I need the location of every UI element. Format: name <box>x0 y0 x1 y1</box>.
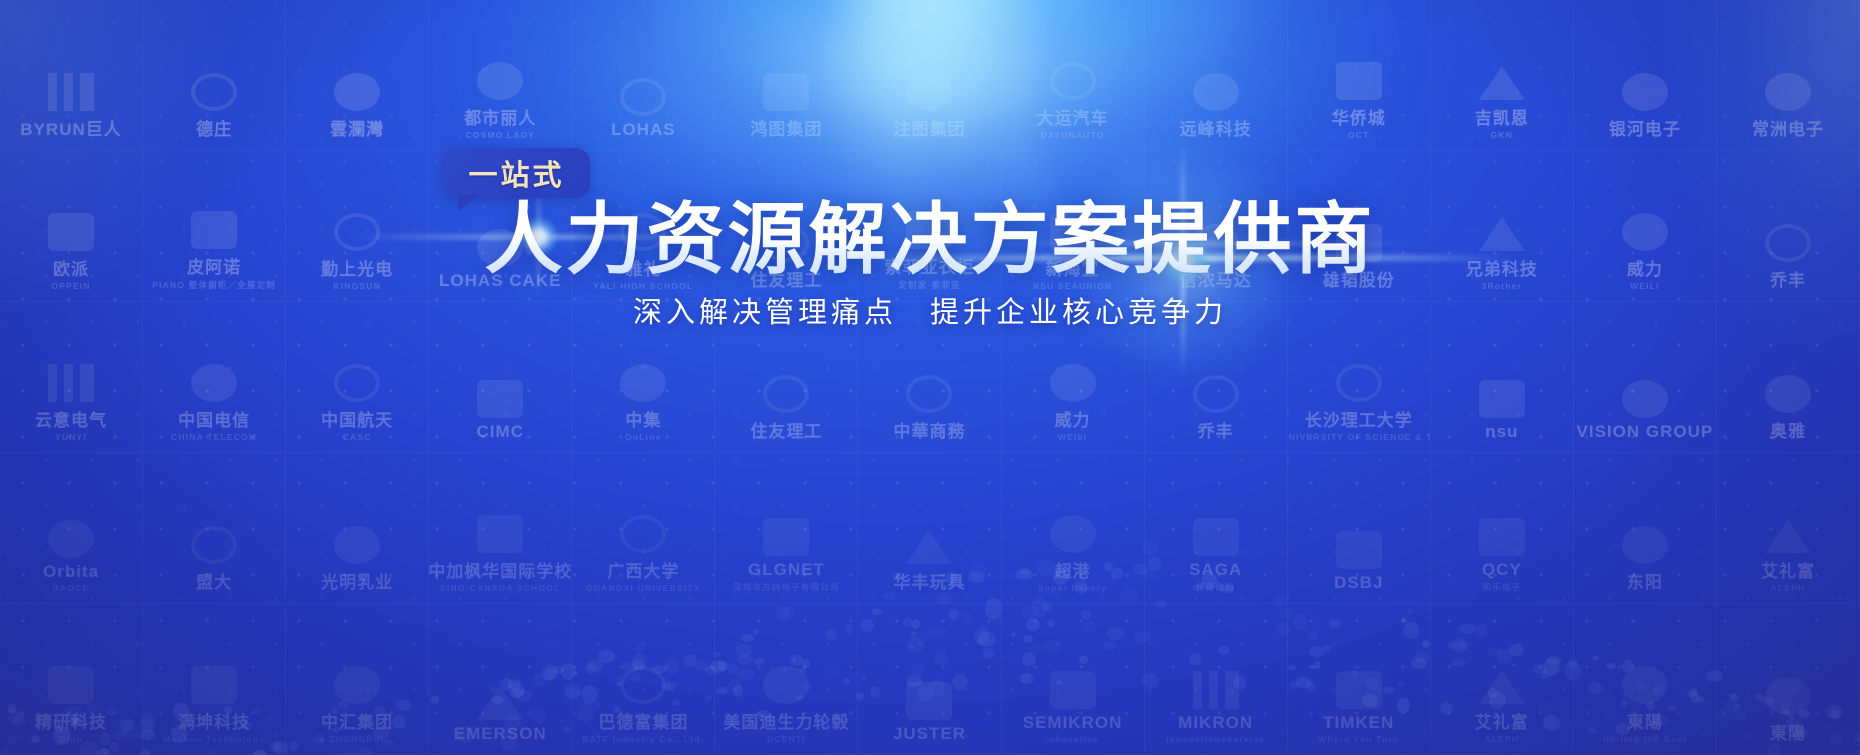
one-stop-badge-wrapper: 一站式 <box>443 148 590 198</box>
banner-content: 一站式 人力资源解决方案提供商 深入解决管理痛点 提升企业核心竞争力 <box>0 0 1860 755</box>
one-stop-badge: 一站式 <box>443 148 590 198</box>
hero-banner: BYRUN巨人德庄雲瀾灣都市丽人COSMO LADYLOHAS鸿图集团注图集团大… <box>0 0 1860 755</box>
one-stop-badge-label: 一站式 <box>468 152 564 194</box>
page-title: 人力资源解决方案提供商 <box>0 196 1860 283</box>
page-subtitle: 深入解决管理痛点 提升企业核心竞争力 <box>0 289 1860 331</box>
